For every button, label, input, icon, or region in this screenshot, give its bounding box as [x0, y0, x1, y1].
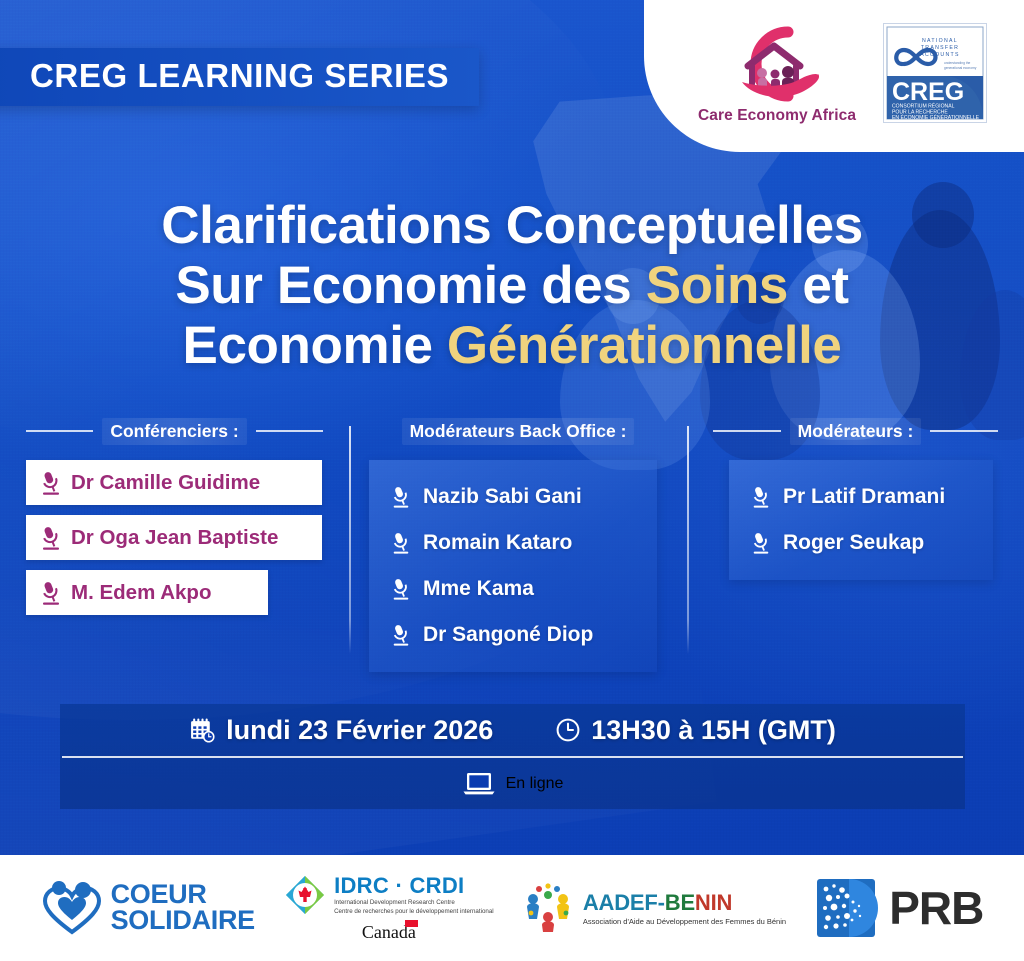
svg-text:ACCOUNTS: ACCOUNTS	[920, 52, 960, 58]
event-date-text: lundi 23 Février 2026	[226, 715, 493, 746]
idrc-sub-1: International Development Research Centr…	[334, 899, 494, 908]
event-date: lundi 23 Février 2026	[189, 715, 493, 746]
event-mode-text: En ligne	[506, 775, 564, 793]
speakers-heading: Conférenciers :	[26, 418, 323, 444]
moderators-heading: Modérateurs :	[713, 418, 998, 444]
speakers-heading-label: Conférenciers :	[102, 418, 246, 445]
moderator-name: Pr Latif Dramani	[783, 485, 945, 509]
aadef-name-part-1: AADEF-	[583, 890, 665, 915]
back-office-item[interactable]: Romain Kataro	[391, 520, 639, 566]
idrc-top-row: IDRC · CRDI International Development Re…	[284, 873, 494, 917]
care-economy-africa-label: Care Economy Africa	[698, 107, 856, 125]
moderators-heading-label: Modérateurs :	[790, 418, 922, 445]
microphone-icon	[40, 470, 62, 496]
idrc-leaf-icon	[284, 874, 326, 916]
svg-text:CONSORTIUM RÉGIONAL: CONSORTIUM RÉGIONAL	[892, 103, 955, 110]
prb-wordmark: PRB	[889, 881, 983, 935]
title-line-2-a: Sur Economie des	[175, 256, 645, 315]
header-logo-panel: Care Economy Africa NATIONAL TRANSFER AC…	[644, 0, 1024, 152]
microphone-icon	[391, 485, 411, 509]
microphone-icon	[751, 485, 771, 509]
aadef-name-part-3: NIN	[695, 890, 732, 915]
event-mode-row: En ligne	[60, 758, 965, 809]
column-back-office: Modérateurs Back Office : Nazib Sabi Gan…	[349, 418, 687, 670]
heading-rule-right	[930, 430, 998, 432]
back-office-item[interactable]: Mme Kama	[391, 566, 639, 612]
heart-people-icon	[41, 877, 103, 939]
care-economy-africa-logo: Care Economy Africa	[693, 22, 861, 125]
coeur-line-2: SOLIDAIRE	[111, 908, 255, 934]
idrc-name: IDRC · CRDI	[334, 873, 494, 899]
heading-rule-left	[26, 430, 93, 432]
back-office-heading-label: Modérateurs Back Office :	[402, 418, 635, 445]
poster-canvas: Care Economy Africa NATIONAL TRANSFER AC…	[0, 0, 1024, 961]
moderator-item[interactable]: Roger Seukap	[751, 520, 975, 566]
title-line-2: Sur Economie des Soins et	[56, 256, 968, 316]
speaker-name: M. Edem Akpo	[71, 581, 211, 605]
back-office-panel: Nazib Sabi Gani Romain Kataro	[369, 460, 657, 672]
title-line-3-a: Economie	[183, 316, 447, 375]
microphone-icon	[40, 580, 62, 606]
speaker-card[interactable]: Dr Camille Guidime	[26, 460, 322, 505]
microphone-icon	[391, 577, 411, 601]
series-ribbon: CREG LEARNING SERIES	[0, 48, 479, 106]
creg-logo: NATIONAL TRANSFER ACCOUNTS understanding…	[883, 23, 987, 123]
speaker-name: Dr Oga Jean Baptiste	[71, 526, 278, 550]
creg-logo-icon: NATIONAL TRANSFER ACCOUNTS understanding…	[884, 24, 986, 122]
microphone-icon	[391, 623, 411, 647]
back-office-name: Dr Sangoné Diop	[423, 623, 593, 647]
svg-text:TRANSFER: TRANSFER	[921, 45, 959, 51]
laptop-icon	[462, 771, 496, 797]
clock-icon	[555, 717, 581, 743]
aadef-texts: AADEF-BENIN Association d'Aide au Dévelo…	[583, 890, 786, 926]
partner-logo-prb: PRB	[815, 875, 983, 941]
title-line-2-b: et	[788, 256, 849, 315]
partner-logo-coeur-solidaire: COEUR SOLIDAIRE	[41, 877, 255, 939]
calendar-clock-icon	[189, 717, 216, 744]
back-office-item[interactable]: Dr Sangoné Diop	[391, 612, 639, 658]
microphone-icon	[391, 531, 411, 555]
speaker-name: Dr Camille Guidime	[71, 471, 260, 495]
partner-logos-footer: COEUR SOLIDAIRE IDRC · CRDI Internationa…	[0, 855, 1024, 961]
heading-rule-left	[713, 430, 781, 432]
people-circle-icon	[523, 883, 575, 933]
coeur-solidaire-wordmark: COEUR SOLIDAIRE	[111, 882, 255, 934]
idrc-texts: IDRC · CRDI International Development Re…	[334, 873, 494, 917]
partner-logo-idrc-crdi: IDRC · CRDI International Development Re…	[284, 873, 494, 943]
canada-flag-icon	[405, 920, 418, 927]
microphone-icon	[40, 525, 62, 551]
canada-wordmark: Canada	[362, 922, 416, 943]
back-office-item[interactable]: Nazib Sabi Gani	[391, 474, 639, 520]
speaker-card[interactable]: Dr Oga Jean Baptiste	[26, 515, 322, 560]
back-office-name: Nazib Sabi Gani	[423, 485, 582, 509]
idrc-sub-2: Centre de recherches pour le développeme…	[334, 908, 494, 917]
svg-text:EN ÉCONOMIE GÉNÉRATIONNELLE: EN ÉCONOMIE GÉNÉRATIONNELLE	[892, 114, 980, 121]
back-office-heading: Modérateurs Back Office :	[363, 418, 673, 444]
heading-rule-right	[256, 430, 323, 432]
people-columns: Conférenciers : Dr Camille Guidime	[0, 418, 1024, 670]
moderator-item[interactable]: Pr Latif Dramani	[751, 474, 975, 520]
aadef-subtitle: Association d'Aide au Développement des …	[583, 917, 786, 926]
column-moderators: Modérateurs : Pr Latif Dramani	[687, 418, 1024, 670]
page-title: Clarifications Conceptuelles Sur Economi…	[0, 196, 1024, 376]
moderator-name: Roger Seukap	[783, 531, 924, 555]
aadef-name-part-2: BE	[665, 890, 695, 915]
svg-text:generational economy: generational economy	[944, 66, 977, 70]
title-line-3: Economie Générationnelle	[56, 316, 968, 376]
title-highlight-generationnelle: Générationnelle	[447, 316, 842, 375]
speaker-card[interactable]: M. Edem Akpo	[26, 570, 268, 615]
event-date-time-row: lundi 23 Février 2026 13H30 à 15H (GMT)	[60, 704, 965, 756]
partner-logo-aadef-benin: AADEF-BENIN Association d'Aide au Dévelo…	[523, 883, 786, 933]
back-office-name: Romain Kataro	[423, 531, 572, 555]
back-office-name: Mme Kama	[423, 577, 534, 601]
svg-text:CREG: CREG	[892, 78, 964, 106]
care-hand-house-icon	[718, 22, 836, 106]
svg-text:understanding the: understanding the	[944, 61, 971, 65]
event-info-bar: lundi 23 Février 2026 13H30 à 15H (GMT) …	[60, 704, 965, 809]
event-time-text: 13H30 à 15H (GMT)	[591, 715, 836, 746]
moderators-panel: Pr Latif Dramani Roger Seukap	[729, 460, 993, 580]
svg-text:NATIONAL: NATIONAL	[922, 38, 958, 44]
title-highlight-soins: Soins	[646, 256, 788, 315]
series-title: CREG LEARNING SERIES	[30, 57, 449, 94]
column-speakers: Conférenciers : Dr Camille Guidime	[0, 418, 349, 670]
title-line-1: Clarifications Conceptuelles	[56, 196, 968, 256]
globe-dots-icon	[815, 875, 881, 941]
event-time: 13H30 à 15H (GMT)	[555, 715, 836, 746]
aadef-name: AADEF-BENIN	[583, 890, 786, 916]
microphone-icon	[751, 531, 771, 555]
